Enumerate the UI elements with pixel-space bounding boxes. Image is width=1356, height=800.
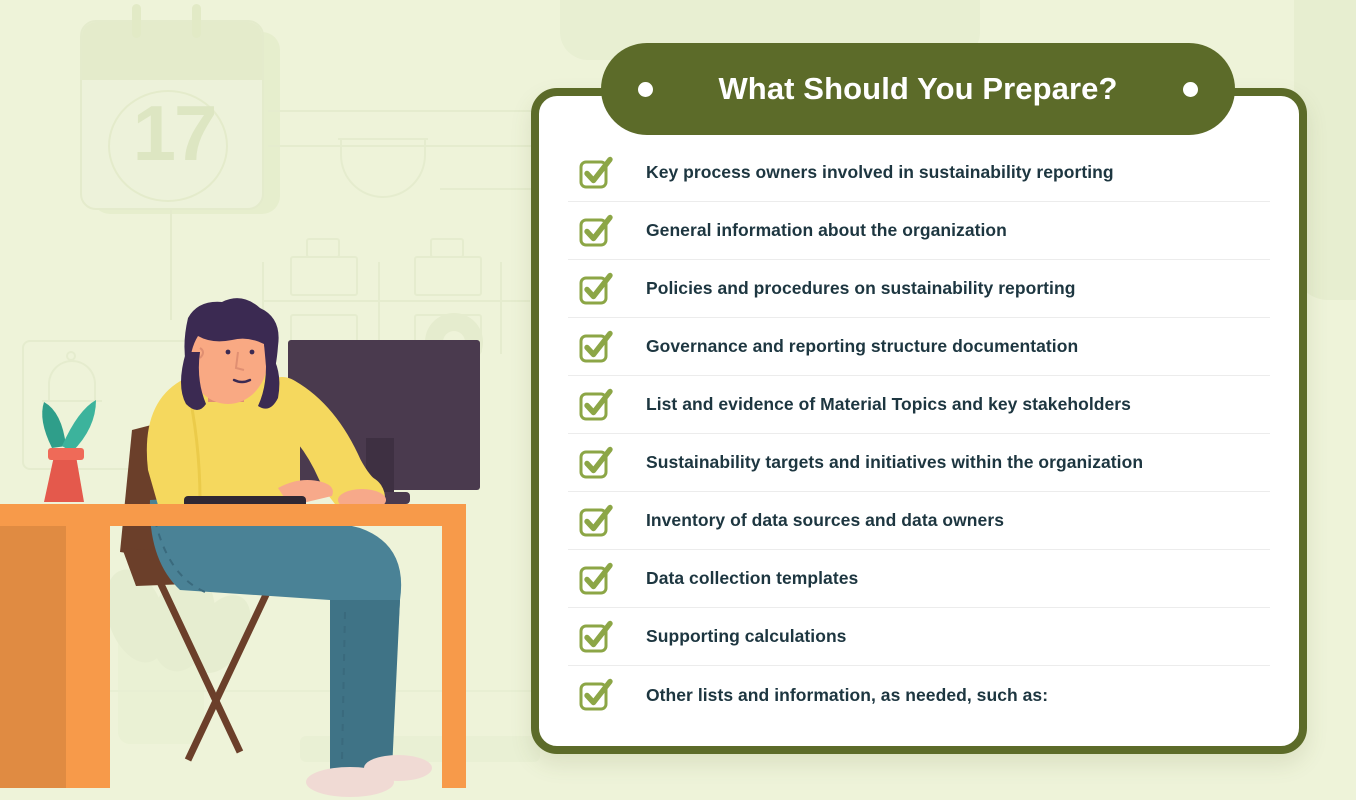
- checklist-row[interactable]: Governance and reporting structure docum…: [568, 318, 1270, 376]
- checklist-item-label: Supporting calculations: [646, 626, 846, 647]
- checklist-item-label: Data collection templates: [646, 568, 858, 589]
- checklist-item-label: General information about the organizati…: [646, 220, 1007, 241]
- prepare-checklist-card: Key process owners involved in sustainab…: [531, 88, 1307, 754]
- checklist-item-label: Key process owners involved in sustainab…: [646, 162, 1114, 183]
- card-inner: Key process owners involved in sustainab…: [539, 96, 1299, 746]
- checklist-row[interactable]: List and evidence of Material Topics and…: [568, 376, 1270, 434]
- checklist-row[interactable]: Inventory of data sources and data owner…: [568, 492, 1270, 550]
- dot-right-icon: [1183, 82, 1198, 97]
- desk-plant-icon: [42, 400, 96, 502]
- checklist-row[interactable]: Other lists and information, as needed, …: [568, 666, 1270, 724]
- checkbox-checked-icon[interactable]: [578, 504, 612, 538]
- checklist-item-label: Inventory of data sources and data owner…: [646, 510, 1004, 531]
- dot-left-icon: [638, 82, 653, 97]
- checkbox-checked-icon[interactable]: [578, 156, 612, 190]
- card-header-banner: What Should You Prepare?: [601, 43, 1235, 135]
- checkbox-checked-icon[interactable]: [578, 446, 612, 480]
- checklist-item-label: Policies and procedures on sustainabilit…: [646, 278, 1075, 299]
- desk-worker-illustration: [0, 0, 540, 800]
- checklist-row[interactable]: General information about the organizati…: [568, 202, 1270, 260]
- checklist-item-label: Sustainability targets and initiatives w…: [646, 452, 1143, 473]
- checklist-row[interactable]: Policies and procedures on sustainabilit…: [568, 260, 1270, 318]
- screenshot-stage: 17: [0, 0, 1356, 800]
- checklist-item-label: Other lists and information, as needed, …: [646, 685, 1048, 706]
- checklist-row[interactable]: Data collection templates: [568, 550, 1270, 608]
- checklist-row[interactable]: Sustainability targets and initiatives w…: [568, 434, 1270, 492]
- checkbox-checked-icon[interactable]: [578, 272, 612, 306]
- checkbox-checked-icon[interactable]: [578, 214, 612, 248]
- checklist-item-label: Governance and reporting structure docum…: [646, 336, 1078, 357]
- checkbox-checked-icon[interactable]: [578, 678, 612, 712]
- checklist-row[interactable]: Key process owners involved in sustainab…: [568, 144, 1270, 202]
- checklist-row[interactable]: Supporting calculations: [568, 608, 1270, 666]
- checkbox-checked-icon[interactable]: [578, 562, 612, 596]
- checklist-item-label: List and evidence of Material Topics and…: [646, 394, 1131, 415]
- checkbox-checked-icon[interactable]: [578, 330, 612, 364]
- checkbox-checked-icon[interactable]: [578, 388, 612, 422]
- page-title: What Should You Prepare?: [718, 71, 1117, 107]
- checklist: Key process owners involved in sustainab…: [568, 144, 1270, 724]
- checkbox-checked-icon[interactable]: [578, 620, 612, 654]
